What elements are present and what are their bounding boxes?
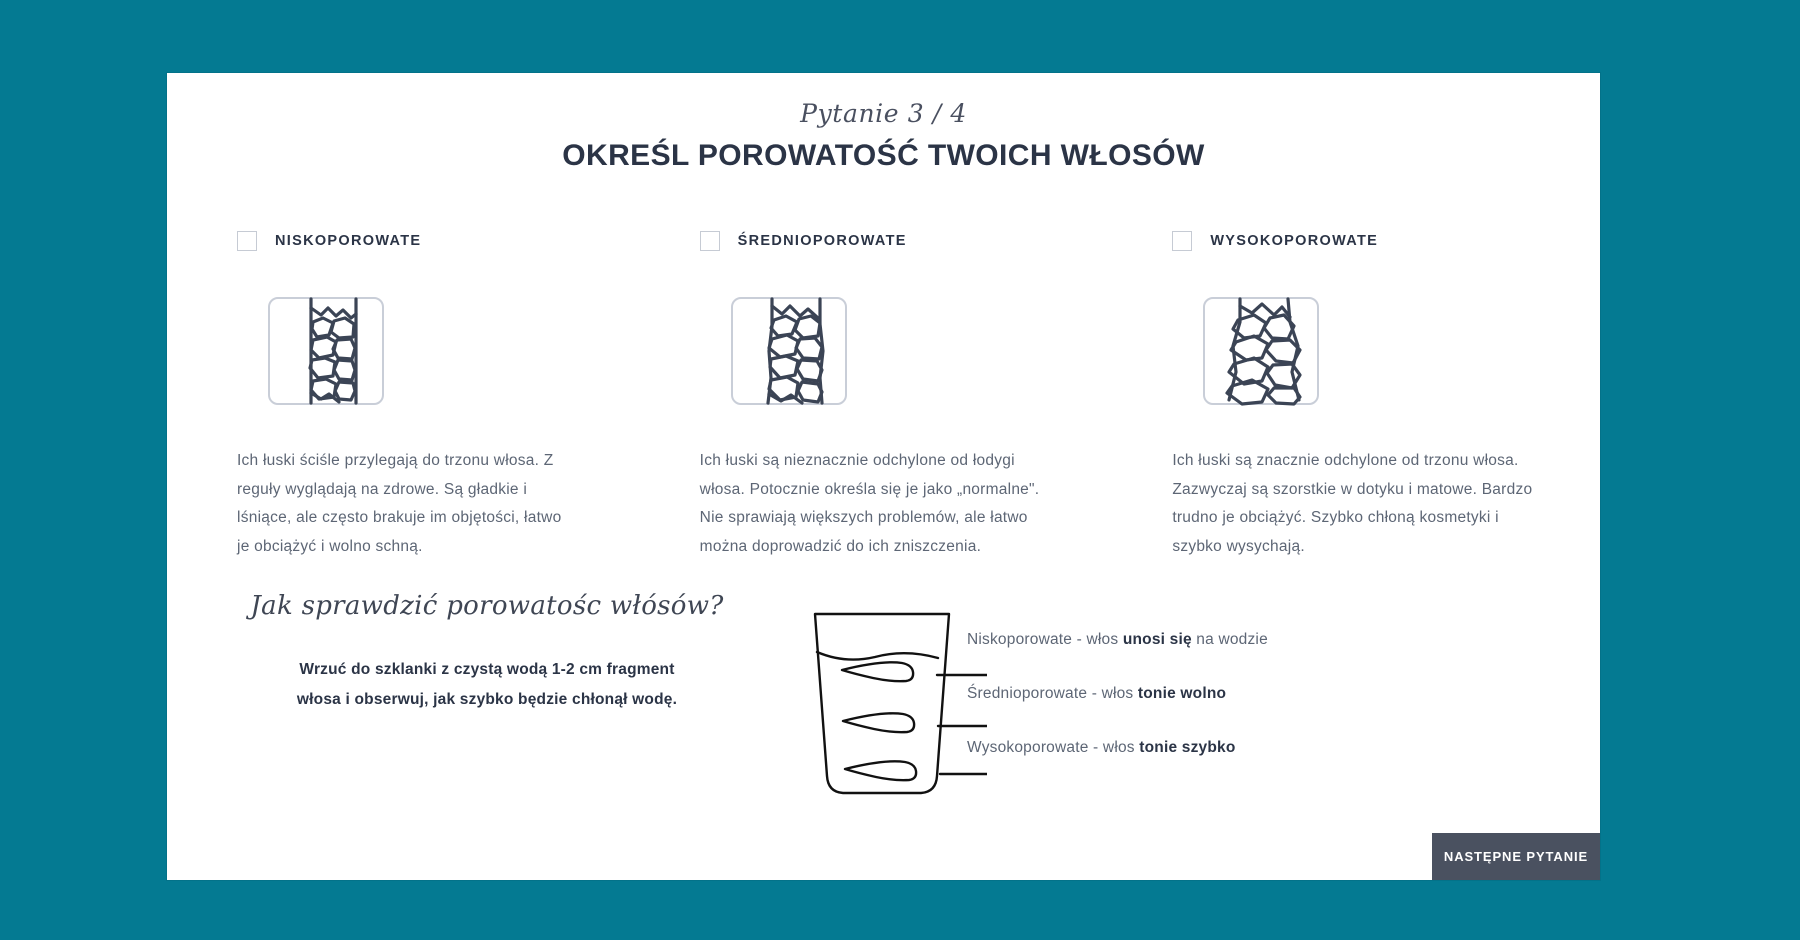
- illustration-wrap: [1172, 296, 1570, 411]
- legend-item-wysokoporowate: Wysokoporowate - włos tonie szybko: [967, 739, 1467, 793]
- legend-strong: tonie wolno: [1138, 685, 1226, 702]
- question-counter: Pytanie 3 / 4: [167, 99, 1600, 128]
- hair-cuticle-low-porosity-icon: [267, 296, 385, 406]
- how-to-title: Jak sprawdzić porowatośc włósów?: [247, 591, 727, 621]
- how-to-check-section: Jak sprawdzić porowatośc włósów? Wrzuć d…: [167, 553, 1600, 803]
- option-srednioporowate[interactable]: ŚREDNIOPOROWATE: [645, 228, 1123, 561]
- option-wysokoporowate[interactable]: WYSOKOPOROWATE: [1122, 228, 1600, 561]
- option-description: Ich łuski ściśle przylegają do trzonu wł…: [237, 447, 577, 561]
- hair-cuticle-medium-porosity-icon: [730, 296, 848, 406]
- checkbox-srednioporowate[interactable]: [700, 231, 720, 251]
- legend-suffix: na wodzie: [1192, 631, 1268, 648]
- illustration-wrap: [237, 296, 615, 411]
- option-header[interactable]: ŚREDNIOPOROWATE: [700, 228, 1093, 254]
- how-to-line-1: Wrzuć do szklanki z czystą wodą 1-2 cm f…: [247, 655, 727, 685]
- legend-prefix: Niskoporowate - włos: [967, 631, 1123, 648]
- quiz-card: Pytanie 3 / 4 OKREŚL POROWATOŚĆ TWOICH W…: [167, 73, 1600, 880]
- page-title: OKREŚL POROWATOŚĆ TWOICH WŁOSÓW: [167, 139, 1600, 173]
- legend-item-srednioporowate: Średnioporowate - włos tonie wolno: [967, 685, 1467, 739]
- how-to-instructions: Wrzuć do szklanki z czystą wodą 1-2 cm f…: [247, 655, 727, 715]
- option-niskoporowate[interactable]: NISKOPOROWATE: [167, 228, 645, 561]
- hair-cuticle-high-porosity-icon: [1202, 296, 1320, 406]
- option-header[interactable]: WYSOKOPOROWATE: [1172, 228, 1570, 254]
- legend-strong: unosi się: [1123, 631, 1192, 648]
- checkbox-wysokoporowate[interactable]: [1172, 231, 1192, 251]
- checkbox-niskoporowate[interactable]: [237, 231, 257, 251]
- legend-strong: tonie szybko: [1139, 739, 1235, 756]
- option-description: Ich łuski są nieznacznie odchylone od ło…: [700, 447, 1060, 561]
- option-label: ŚREDNIOPOROWATE: [738, 233, 907, 249]
- option-header[interactable]: NISKOPOROWATE: [237, 228, 615, 254]
- porosity-options: NISKOPOROWATE: [167, 228, 1600, 561]
- porosity-legend: Niskoporowate - włos unosi się na wodzie…: [967, 631, 1467, 793]
- how-to-line-2: włosa i obserwuj, jak szybko będzie chło…: [247, 685, 727, 715]
- how-to-text-block: Jak sprawdzić porowatośc włósów? Wrzuć d…: [247, 591, 727, 715]
- illustration-wrap: [700, 296, 1093, 411]
- legend-prefix: Wysokoporowate - włos: [967, 739, 1139, 756]
- legend-item-niskoporowate: Niskoporowate - włos unosi się na wodzie: [967, 631, 1467, 685]
- quiz-page: Pytanie 3 / 4 OKREŚL POROWATOŚĆ TWOICH W…: [0, 0, 1800, 940]
- legend-prefix: Średnioporowate - włos: [967, 685, 1138, 702]
- option-label: NISKOPOROWATE: [275, 233, 421, 249]
- option-label: WYSOKOPOROWATE: [1210, 233, 1378, 249]
- glass-illustration-wrap: [797, 608, 987, 803]
- option-description: Ich łuski są znacznie odchylone od trzon…: [1172, 447, 1532, 561]
- next-question-button[interactable]: NASTĘPNE PYTANIE: [1432, 833, 1600, 880]
- glass-of-water-with-hair-strands-icon: [797, 608, 987, 803]
